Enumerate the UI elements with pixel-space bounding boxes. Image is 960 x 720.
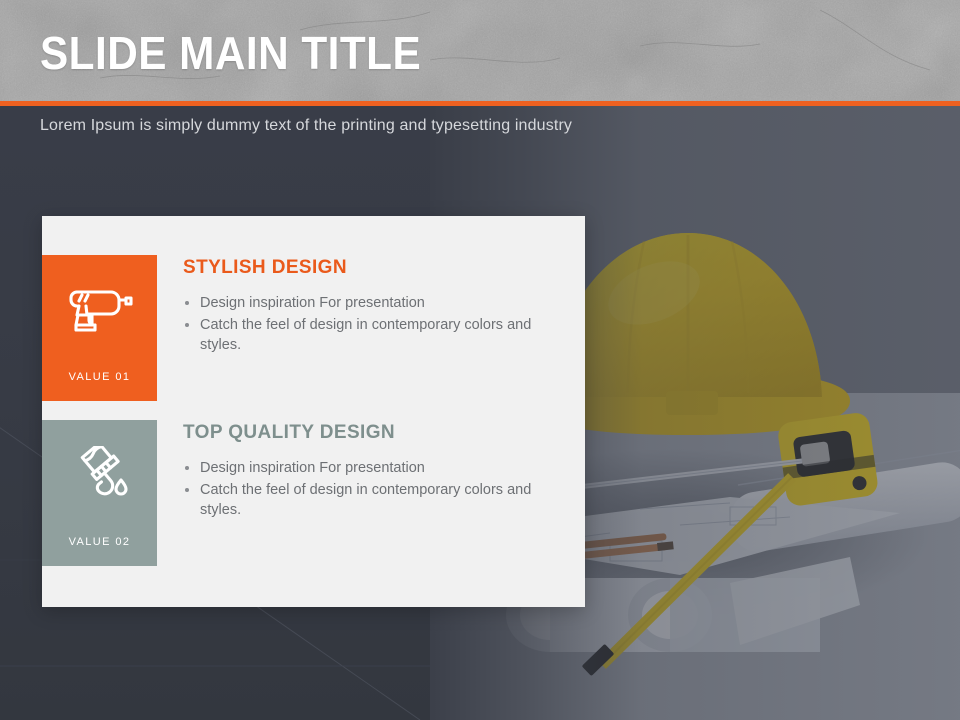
list-item: Design inspiration For presentation [183, 293, 533, 313]
value-tile-01-label: VALUE 01 [42, 371, 157, 383]
paint-brush-icon [67, 446, 133, 502]
header-band: SLIDE MAIN TITLE [0, 0, 960, 101]
content-panel: VALUE 01 STYLISH DESIGN Design inspirati… [42, 216, 585, 607]
accent-rule [0, 101, 960, 106]
list-item: Catch the feel of design in contemporary… [183, 480, 533, 520]
value-tile-02[interactable]: VALUE 02 [42, 420, 157, 566]
value-title-02: TOP QUALITY DESIGN [183, 422, 533, 444]
value-title-01: STYLISH DESIGN [183, 257, 533, 279]
value-bullets-02: Design inspiration For presentation Catc… [183, 458, 533, 520]
value-bullets-01: Design inspiration For presentation Catc… [183, 293, 533, 355]
list-item: Catch the feel of design in contemporary… [183, 315, 533, 355]
slide: SLIDE MAIN TITLE Lorem Ipsum is simply d… [0, 0, 960, 720]
value-copy-02: TOP QUALITY DESIGN Design inspiration Fo… [157, 420, 533, 566]
list-item: Design inspiration For presentation [183, 458, 533, 478]
value-tile-01[interactable]: VALUE 01 [42, 255, 157, 401]
value-row-1: VALUE 01 STYLISH DESIGN Design inspirati… [42, 255, 585, 401]
value-tile-02-label: VALUE 02 [42, 536, 157, 548]
power-drill-icon [67, 281, 133, 337]
value-copy-01: STYLISH DESIGN Design inspiration For pr… [157, 255, 533, 401]
page-title: SLIDE MAIN TITLE [40, 26, 421, 80]
page-subtitle: Lorem Ipsum is simply dummy text of the … [40, 115, 572, 137]
value-row-2: VALUE 02 TOP QUALITY DESIGN Design inspi… [42, 420, 585, 566]
